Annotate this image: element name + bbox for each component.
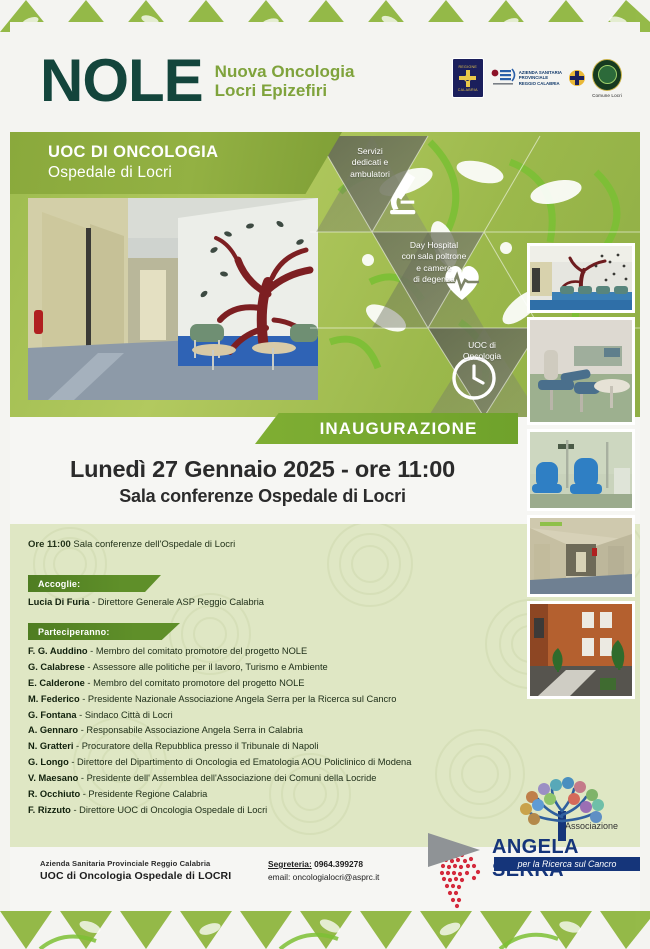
asp-reggio-calabria-logo: AZIENDA SANITARIA PROVINCIALE REGGIO CAL… [491, 67, 562, 89]
person-name: F. G. Auddino [28, 646, 88, 656]
sun-emblem-icon [569, 70, 585, 86]
list-item: Lucia Di Furia - Direttore Generale ASP … [28, 598, 264, 607]
angela-serra-tagline: per la Ricerca sul Cancro [494, 859, 640, 869]
welcome-tab: Accoglie: [28, 575, 161, 592]
person-name: N. Gratteri [28, 741, 73, 751]
regione-calabria-line1: REGIONE [458, 65, 477, 69]
person-role: - Assessore alle politiche per il lavoro… [85, 662, 328, 672]
list-item: N. Gratteri - Procuratore della Repubbli… [28, 742, 411, 751]
inauguration-banner: INAUGURAZIONE [255, 413, 518, 444]
triangle-label-uoc: UOC di Oncologia [434, 340, 530, 363]
person-name: E. Calderone [28, 678, 85, 688]
photo-hero-corridor-tree-mural [28, 198, 318, 400]
event-date-block: Lunedì 27 Gennaio 2025 - ore 11:00 Sala … [10, 456, 515, 507]
person-role: - Direttore Generale ASP Reggio Calabria [89, 597, 264, 607]
poster-root: NOLE Nuova Oncologia Locri Epizefiri REG… [0, 0, 650, 949]
secretary-phone: 0964.399278 [312, 859, 363, 869]
email-value[interactable]: oncologialocri@asprc.it [290, 872, 379, 882]
institution-logos: REGIONE CALABRIA A [452, 58, 622, 98]
person-name: F. Rizzuto [28, 805, 71, 815]
email-line: email: oncologialocri@asprc.it [268, 872, 379, 882]
list-item: E. Calderone - Membro del comitato promo… [28, 679, 411, 688]
person-role: - Direttore del Dipartimento di Oncologi… [69, 757, 412, 767]
list-item: A. Gennaro - Responsabile Associazione A… [28, 726, 411, 735]
secretary-label: Segreteria: [268, 859, 312, 869]
person-name: R. Occhiuto [28, 789, 80, 799]
triangle-label-servizi: Servizi dedicati e ambulatori [322, 146, 418, 180]
comune-locri-caption: Comune Locri [592, 93, 622, 98]
person-name: Lucia Di Furia [28, 597, 89, 607]
triangle-label-day-hospital: Day Hospital con sala poltrone e camere … [378, 240, 490, 286]
person-name: V. Maesano [28, 773, 78, 783]
person-role: - Presidente Regione Calabria [80, 789, 207, 799]
person-role: - Procuratore della Repubblica presso il… [73, 741, 318, 751]
department-title-wedge: UOC DI ONCOLOGIA Ospedale di Locri [10, 132, 342, 194]
person-role: - Responsabile Associazione Angela Serra… [78, 725, 303, 735]
list-item: G. Longo - Direttore del Dipartimento di… [28, 758, 411, 767]
participants-tab: Parteciperanno: [28, 623, 180, 640]
person-role: - Sindaco Città di Locri [77, 710, 173, 720]
regione-calabria-line2: CALABRIA [458, 88, 478, 92]
photo-hospital-exterior [527, 601, 635, 699]
email-label: email: [268, 872, 290, 882]
angela-serra-assoc-label: Associazione [565, 821, 618, 831]
footer-org-line1: Azienda Sanitaria Provinciale Reggio Cal… [40, 859, 231, 868]
list-item: R. Occhiuto - Presidente Regione Calabri… [28, 790, 411, 799]
department-line2: Ospedale di Locri [48, 164, 172, 182]
participants-tab-label: Parteciperanno: [28, 627, 110, 637]
program-time-line: Ore 11:00 Sala conferenze dell'Ospedale … [28, 539, 235, 550]
angela-serra-tree-icon [508, 777, 618, 843]
program-time-venue: Sala conferenze dell'Ospedale di Locri [71, 539, 235, 550]
bottom-leaf-border [0, 911, 650, 949]
asp-line3: REGGIO CALABRIA [519, 81, 562, 86]
program-time: Ore 11:00 [28, 539, 71, 550]
poster-header: NOLE Nuova Oncologia Locri Epizefiri REG… [10, 22, 640, 132]
list-item: V. Maesano - Presidente dell' Assemblea … [28, 774, 411, 783]
footer-organization: Azienda Sanitaria Provinciale Reggio Cal… [40, 859, 231, 882]
photo-strip [527, 243, 635, 703]
secretary-line: Segreteria: 0964.399278 [268, 859, 379, 869]
photo-waiting-area-tree-mural [527, 243, 635, 313]
brand-expansion-line2: Locri Epizefiri [215, 81, 355, 101]
list-item: M. Federico - Presidente Nazionale Assoc… [28, 695, 411, 704]
comune-locri-logo: Comune Locri [592, 59, 622, 98]
person-role: - Membro del comitato promotore del prog… [88, 646, 308, 656]
person-name: G. Longo [28, 757, 69, 767]
participants-list: F. G. Auddino - Membro del comitato prom… [28, 647, 411, 822]
asp-mark-icon [491, 67, 517, 89]
angela-serra-tagline-bar: per la Ricerca sul Cancro [494, 857, 640, 871]
person-role: - Presidente Nazionale Associazione Ange… [80, 694, 397, 704]
list-item: F. Rizzuto - Direttore UOC di Oncologia … [28, 806, 411, 815]
welcome-tab-label: Accoglie: [28, 579, 80, 589]
person-role: - Direttore UOC di Oncologia Ospedale di… [71, 805, 267, 815]
person-name: A. Gennaro [28, 725, 78, 735]
angela-serra-logo: Associazione ANGELA SERRA per la Ricerca… [470, 783, 640, 875]
brand-acronym: NOLE [40, 56, 203, 105]
list-item: G. Fontana - Sindaco Città di Locri [28, 711, 411, 720]
event-venue: Sala conferenze Ospedale di Locri [10, 486, 515, 507]
list-item: G. Calabrese - Assessore alle politiche … [28, 663, 411, 672]
photo-treatment-chairs [527, 429, 635, 511]
regione-calabria-logo: REGIONE CALABRIA [452, 58, 484, 98]
event-date: Lunedì 27 Gennaio 2025 - ore 11:00 [10, 456, 515, 483]
list-item: F. G. Auddino - Membro del comitato prom… [28, 647, 411, 656]
person-name: G. Fontana [28, 710, 77, 720]
person-name: G. Calabrese [28, 662, 85, 672]
department-line1: UOC DI ONCOLOGIA [48, 143, 218, 162]
brand-expansion-line1: Nuova Oncologia [215, 62, 355, 82]
footer-org-line2: UOC di Oncologia Ospedale di LOCRI [40, 870, 231, 882]
person-role: - Membro del comitato promotore del prog… [85, 678, 305, 688]
inauguration-label: INAUGURAZIONE [255, 419, 518, 439]
person-role: - Presidente dell' Assemblea dell'Associ… [78, 773, 376, 783]
photo-day-hospital-room [527, 317, 635, 425]
photo-corridor [527, 515, 635, 597]
brand-expansion: Nuova Oncologia Locri Epizefiri [215, 62, 355, 101]
footer-contacts: Segreteria: 0964.399278 email: oncologia… [268, 859, 379, 882]
person-name: M. Federico [28, 694, 80, 704]
brand-block: NOLE Nuova Oncologia Locri Epizefiri [40, 56, 354, 105]
welcome-list: Lucia Di Furia - Direttore Generale ASP … [28, 598, 264, 614]
